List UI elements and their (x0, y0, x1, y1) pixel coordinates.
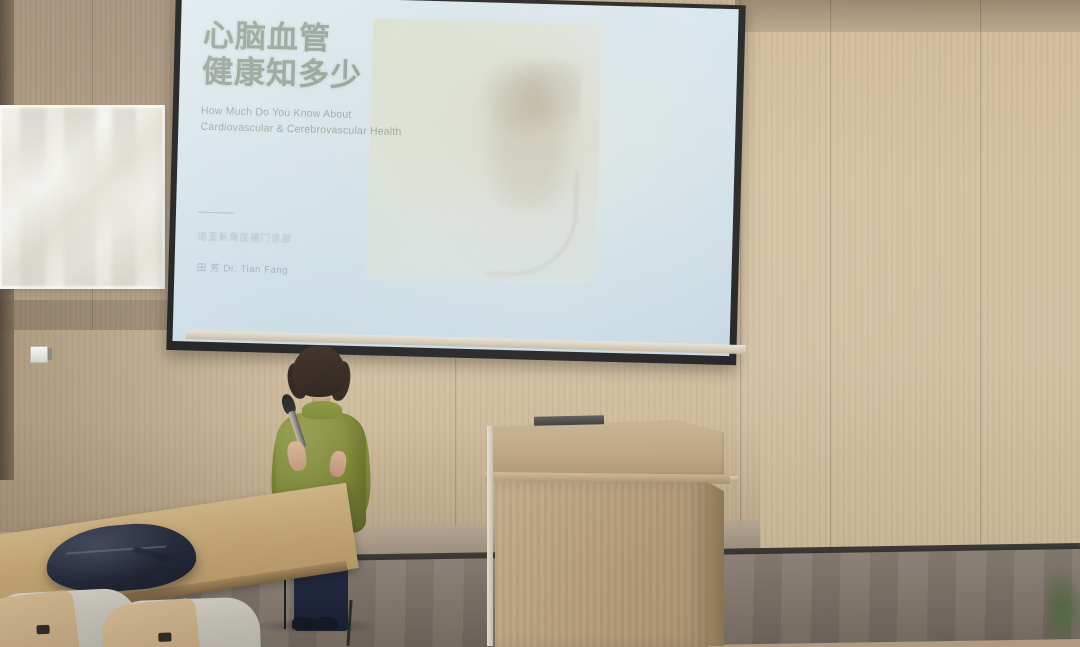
light-switch-plate[interactable] (30, 346, 48, 363)
lectern[interactable] (489, 420, 724, 647)
panel-reflection (64, 108, 96, 286)
presenter-hair (292, 345, 346, 397)
slide-divider-rule (198, 212, 234, 214)
panel-reflection (20, 108, 46, 286)
right-wall-shadow-top (735, 0, 1080, 32)
seat-frame (0, 589, 80, 647)
presenter-turtleneck-collar (302, 401, 342, 419)
presenter-shoe-right (314, 617, 338, 630)
lecture-hall-photo: 心脑血管 健康知多少 How Much Do You Know About Ca… (0, 0, 1080, 647)
lectern-left-edge (487, 426, 493, 646)
slide-photo (366, 18, 601, 284)
slide-title-line-1: 心脑血管 (203, 17, 364, 58)
slide-author: 田 芳 Dr. Tian Fang (197, 260, 289, 276)
presenter-shoe-left (292, 617, 316, 630)
slide-title: 心脑血管 健康知多少 (202, 17, 364, 94)
right-wall (735, 0, 1080, 600)
lectern-body (495, 482, 708, 647)
lectern-top (489, 420, 724, 478)
potted-plant (1046, 567, 1080, 637)
seat-clip (36, 625, 49, 635)
slide-organization: 诺亚新角医德门诊部 (197, 229, 292, 246)
slide-subtitle: How Much Do You Know About Cardiovascula… (200, 104, 402, 140)
slide-title-line-2: 健康知多少 (202, 54, 363, 95)
projection-screen: 心脑血管 健康知多少 How Much Do You Know About Ca… (166, 0, 746, 365)
seat-frame (99, 597, 201, 647)
laptop-on-lectern[interactable] (534, 415, 604, 425)
wall-seam (830, 0, 831, 600)
wall-seam (980, 0, 981, 600)
auditorium-seat (109, 586, 261, 647)
wall-white-panel (2, 108, 162, 286)
panel-reflection (112, 108, 136, 286)
seat-clip (158, 632, 171, 641)
screen-surface: 心脑血管 健康知多少 How Much Do You Know About Ca… (173, 0, 739, 356)
presentation-slide: 心脑血管 健康知多少 How Much Do You Know About Ca… (173, 0, 739, 356)
